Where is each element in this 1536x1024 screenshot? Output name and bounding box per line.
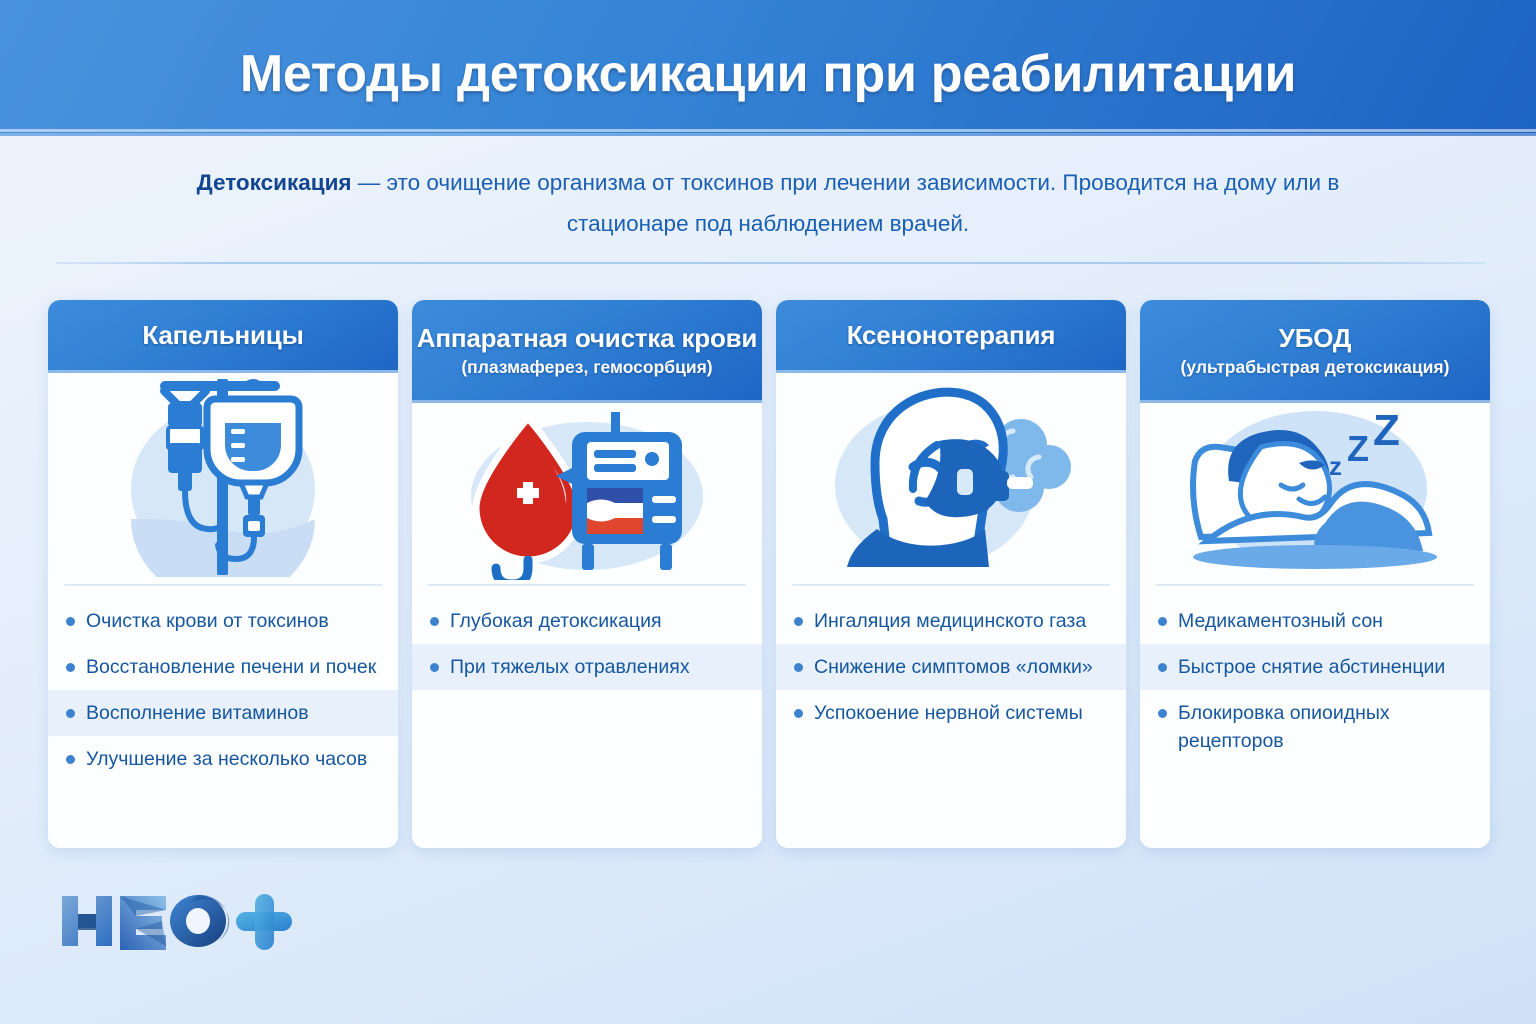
list-item: Быстрое снятие абстиненции <box>1140 644 1490 690</box>
cards-row: Капельницы <box>48 300 1490 848</box>
page-title: Методы детоксикации при реабилитации <box>0 44 1536 104</box>
card-header: Капельницы <box>48 300 398 370</box>
bullet-dot-icon <box>66 617 75 626</box>
card-bullet-list: Ингаляция медицинското газа Снижение сим… <box>776 586 1126 848</box>
list-item: Ингаляция медицинското газа <box>776 598 1126 644</box>
inhalation-mask-icon <box>817 379 1085 575</box>
bullet-dot-icon <box>66 755 75 764</box>
bullet-dot-icon <box>794 617 803 626</box>
card-subtitle: (ультрабыстрая детоксикация) <box>1181 356 1450 378</box>
list-item: Блокировка опиоидных рецепторов <box>1140 690 1490 764</box>
card-title: Аппаратная очистка крови <box>417 323 757 354</box>
card-title: УБОД <box>1279 323 1351 354</box>
intro-lead: Детоксикация <box>197 170 352 195</box>
sleeping-patient-icon: z Z Z <box>1177 403 1453 581</box>
neo-plus-logo-icon <box>58 888 298 954</box>
list-item: Успокоение нервной системы <box>776 690 1126 736</box>
bullet-dot-icon <box>66 709 75 718</box>
list-item: При тяжелых отравлениях <box>412 644 762 690</box>
bullet-dot-icon <box>66 663 75 672</box>
svg-text:Z: Z <box>1347 428 1369 469</box>
intro-divider <box>56 262 1486 264</box>
bullet-dot-icon <box>1158 617 1167 626</box>
card-icon-area <box>776 370 1126 584</box>
infographic-page: Методы детоксикации при реабилитации Дет… <box>0 0 1536 1024</box>
card-subtitle: (плазмаферез, гемосорбция) <box>461 356 712 378</box>
bullet-text: Медикаментозный сон <box>1178 607 1476 635</box>
card-ksenonoterapiya[interactable]: Ксенонотерапия <box>776 300 1126 848</box>
bullet-dot-icon <box>430 617 439 626</box>
bullet-dot-icon <box>1158 709 1167 718</box>
card-bullet-list: Очистка крови от токсинов Восстановление… <box>48 586 398 848</box>
list-item: Медикаментозный сон <box>1140 598 1490 644</box>
list-item: Очистка крови от токсинов <box>48 598 398 644</box>
bullet-text: Глубокая детоксикация <box>450 607 748 635</box>
bullet-text: Очистка крови от токсинов <box>86 607 384 635</box>
bullet-text: Блокировка опиоидных рецепторов <box>1178 699 1476 755</box>
list-item: Восполнение витаминов <box>48 690 398 736</box>
card-icon-area <box>48 370 398 584</box>
bullet-text: Улучшение за несколько часов <box>86 745 384 773</box>
list-item: Восстановление печени и почек <box>48 644 398 690</box>
blood-drop-machine-icon <box>456 404 718 580</box>
intro-text: — это очищение организма от токсинов при… <box>352 170 1340 236</box>
bullet-dot-icon <box>430 663 439 672</box>
card-apparatnaya-ochistka-krovi[interactable]: Аппаратная очистка крови (плазмаферез, г… <box>412 300 762 848</box>
list-item: Глубокая детоксикация <box>412 598 762 644</box>
bullet-dot-icon <box>1158 663 1167 672</box>
header-banner: Методы детоксикации при реабилитации <box>0 0 1536 136</box>
card-title: Ксенонотерапия <box>847 320 1056 351</box>
card-title: Капельницы <box>142 320 303 351</box>
intro-paragraph: Детоксикация — это очищение организма от… <box>168 162 1368 244</box>
bullet-dot-icon <box>794 709 803 718</box>
card-header: Ксенонотерапия <box>776 300 1126 370</box>
card-icon-area <box>412 400 762 584</box>
svg-text:z: z <box>1329 451 1342 481</box>
bullet-text: Снижение симптомов «ломки» <box>814 653 1112 681</box>
card-bullet-list: Медикаментозный сон Быстрое снятие абсти… <box>1140 586 1490 848</box>
card-icon-area: z Z Z <box>1140 400 1490 584</box>
card-header: УБОД (ультрабыстрая детоксикация) <box>1140 300 1490 400</box>
bullet-text: Восстановление печени и почек <box>86 653 384 681</box>
card-bullet-list: Глубокая детоксикация При тяжелых отравл… <box>412 586 762 848</box>
list-item: Улучшение за несколько часов <box>48 736 398 782</box>
bullet-text: Быстрое снятие абстиненции <box>1178 653 1476 681</box>
card-kapelnicy[interactable]: Капельницы <box>48 300 398 848</box>
list-item: Снижение симптомов «ломки» <box>776 644 1126 690</box>
bullet-text: Ингаляция медицинското газа <box>814 607 1112 635</box>
bullet-text: Успокоение нервной системы <box>814 699 1112 727</box>
iv-drip-icon <box>98 377 348 577</box>
svg-text:Z: Z <box>1373 406 1400 455</box>
bullet-text: При тяжелых отравлениях <box>450 653 748 681</box>
brand-logo[interactable] <box>58 888 298 954</box>
bullet-dot-icon <box>794 663 803 672</box>
card-ubod[interactable]: УБОД (ультрабыстрая детоксикация) <box>1140 300 1490 848</box>
card-header: Аппаратная очистка крови (плазмаферез, г… <box>412 300 762 400</box>
bullet-text: Восполнение витаминов <box>86 699 384 727</box>
